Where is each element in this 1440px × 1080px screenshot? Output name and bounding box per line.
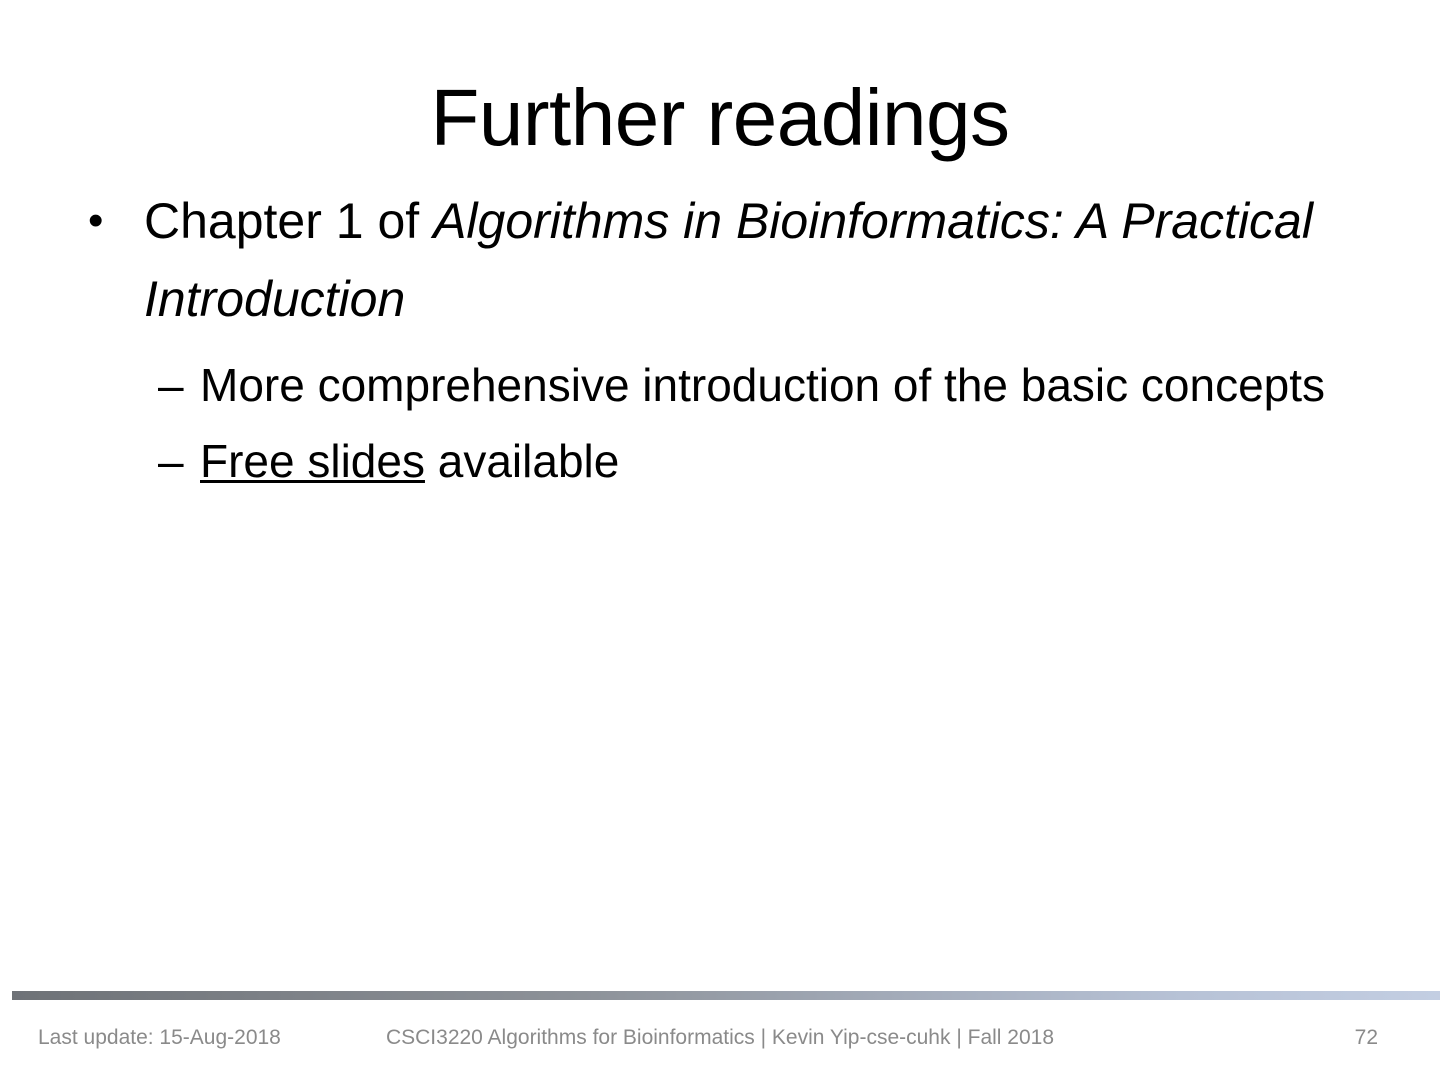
bullet-marker-dash-icon: – [158, 426, 184, 496]
footer: Last update: 15-Aug-2018 CSCI3220 Algori… [0, 1018, 1440, 1058]
bullet-marker-dash-icon: – [158, 350, 184, 420]
free-slides-link[interactable]: Free slides [200, 435, 425, 487]
footer-page-number: 72 [1355, 1018, 1378, 1058]
bullet-item-level1: • Chapter 1 of Algorithms in Bioinformat… [72, 182, 1372, 338]
bullet-item-level2-concepts: – More comprehensive introduction of the… [72, 350, 1372, 420]
footer-divider [12, 991, 1440, 1000]
slide: Further readings • Chapter 1 of Algorith… [0, 0, 1440, 1080]
bullet-text-plain: Chapter 1 of [144, 193, 433, 249]
sub-bullet-list: – More comprehensive introduction of the… [72, 350, 1372, 496]
bullet-marker-dot-icon: • [88, 182, 103, 260]
bullet-item-level1-text: Chapter 1 of Algorithms in Bioinformatic… [144, 182, 1372, 338]
footer-course-info: CSCI3220 Algorithms for Bioinformatics |… [0, 1018, 1440, 1058]
bullet-item-level2-text: More comprehensive introduction of the b… [200, 359, 1325, 411]
page-title: Further readings [0, 76, 1440, 160]
slide-body: • Chapter 1 of Algorithms in Bioinformat… [72, 182, 1372, 502]
bullet-item-level2-text: Free slides available [200, 435, 619, 487]
free-slides-suffix-text: available [425, 435, 619, 487]
bullet-item-level2-free-slides: – Free slides available [72, 426, 1372, 496]
